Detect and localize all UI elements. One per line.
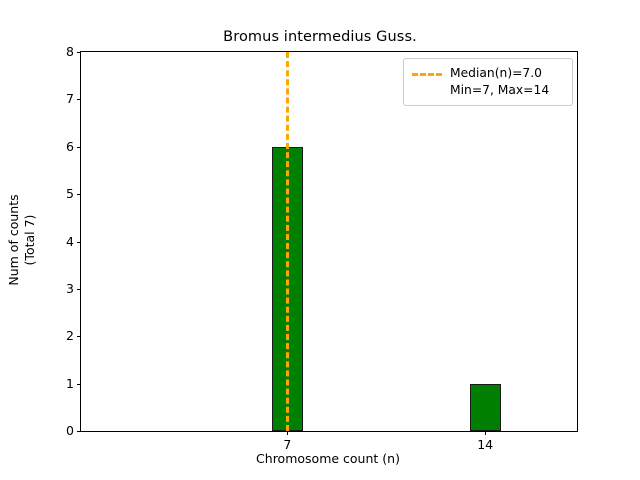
figure-canvas: Bromus intermedius Guss. Num of counts (…	[0, 0, 640, 480]
y-axis-label-line2: (Total 7)	[22, 194, 38, 285]
y-tick-label: 2	[66, 330, 74, 343]
y-tick-label: 3	[66, 283, 74, 296]
plot-area: 012345678714	[80, 51, 578, 432]
x-tick-mark	[287, 431, 288, 435]
y-tick-label: 8	[66, 46, 74, 59]
y-tick-label: 0	[66, 425, 74, 438]
legend-entry-label: Median(n)=7.0 Min=7, Max=14	[450, 65, 549, 99]
median-line-legend-swatch-icon	[412, 66, 442, 82]
y-tick-mark	[77, 336, 81, 337]
bar	[470, 384, 501, 431]
y-tick-label: 4	[66, 235, 74, 248]
y-tick-label: 6	[66, 141, 74, 154]
legend-entry-label-line1: Median(n)=7.0	[450, 65, 549, 82]
x-tick-label: 7	[283, 438, 291, 451]
x-tick-label: 14	[477, 438, 493, 451]
legend: Median(n)=7.0 Min=7, Max=14	[403, 58, 573, 106]
y-tick-mark	[77, 384, 81, 385]
x-tick-mark	[485, 431, 486, 435]
y-tick-label: 5	[66, 188, 74, 201]
legend-entry-label-line2: Min=7, Max=14	[450, 82, 549, 99]
y-axis-label: Num of counts (Total 7)	[6, 194, 38, 285]
y-tick-mark	[77, 147, 81, 148]
y-tick-mark	[77, 99, 81, 100]
y-tick-mark	[77, 52, 81, 53]
y-tick-mark	[77, 194, 81, 195]
x-axis-label: Chromosome count (n)	[80, 452, 576, 466]
plot-inner	[81, 52, 577, 431]
y-axis-label-line1: Num of counts	[6, 194, 22, 285]
median-line-marker	[286, 52, 289, 431]
y-tick-label: 1	[66, 377, 74, 390]
y-tick-label: 7	[66, 93, 74, 106]
y-tick-mark	[77, 242, 81, 243]
chart-title: Bromus intermedius Guss.	[0, 28, 640, 46]
y-tick-mark	[77, 289, 81, 290]
y-tick-mark	[77, 431, 81, 432]
y-axis-label-container: Num of counts (Total 7)	[0, 0, 44, 480]
